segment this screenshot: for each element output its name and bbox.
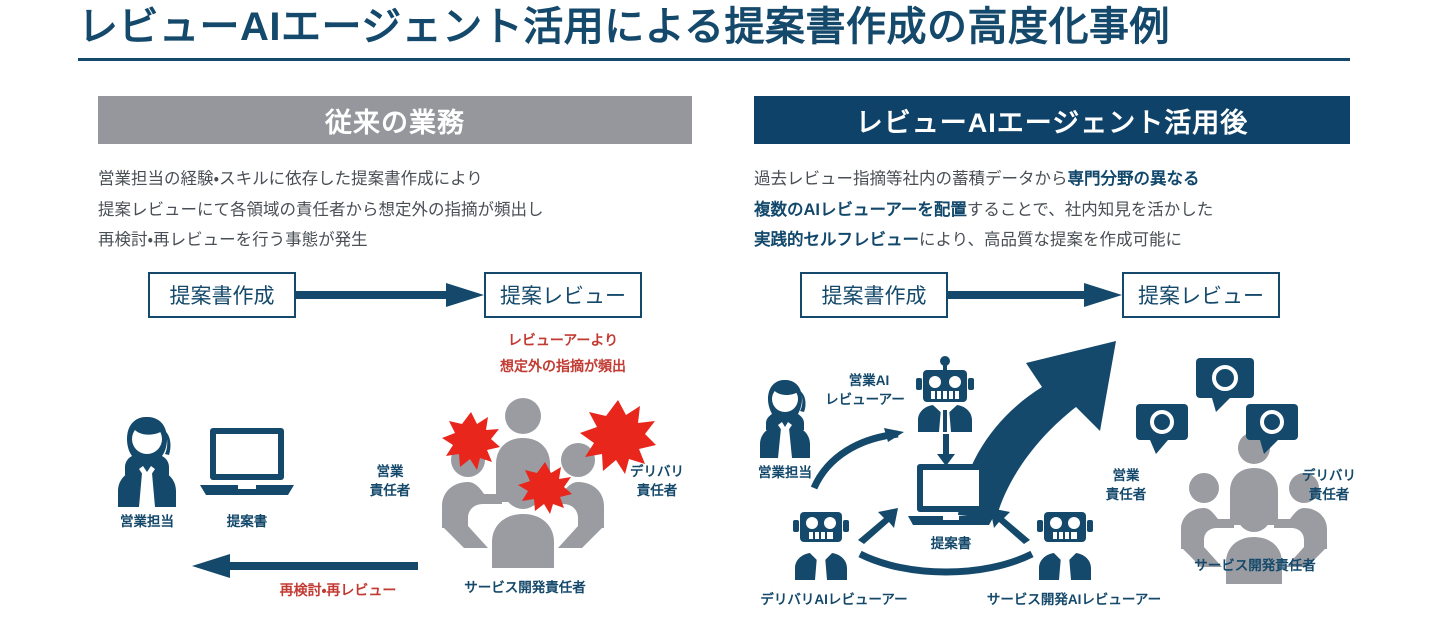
left-body-line-3: 再検討・再レビューを行う事態が発生 — [98, 225, 692, 256]
left-panel: 従来の業務 営業担当の経験・スキルに依存した提案書作成により 提案レビューにて各… — [98, 96, 692, 256]
left-body-line-2: 提案レビューにて各領域の責任者から想定外の指摘が頻出し — [98, 195, 692, 226]
left-rework-label: 再検討・再レビュー — [258, 580, 418, 600]
left-flow-box-create: 提案書作成 — [148, 272, 296, 318]
robots-link-curve-icon — [858, 552, 1034, 576]
person-to-doc-curve-icon — [812, 428, 904, 490]
right-sales-person-icon — [752, 378, 818, 458]
page-title-block: レビューAIエージェント活用による提案書作成の高度化事例 — [78, 4, 1350, 61]
sales-ai-robot-icon — [912, 356, 978, 432]
right-body-line-1: 過去レビュー指摘等社内の蓄積データから専門分野の異なる — [754, 164, 1350, 195]
left-review-note-line1: レビューアーより — [484, 330, 642, 350]
right-body-l3-seg2: により、高品質な提案を作成可能に — [919, 231, 1182, 249]
service-dev-ai-label: サービス開発AIレビューアー — [966, 590, 1182, 610]
left-body-line-1: 営業担当の経験・スキルに依存した提案書作成により — [98, 164, 692, 195]
starburst-icon-left — [442, 412, 500, 470]
page-title: レビューAIエージェント活用による提案書作成の高度化事例 — [78, 4, 1350, 50]
speech-bubble-ok-icon-right — [1246, 404, 1298, 454]
right-body-l2-seg1: 複数のAIレビューアーを配置 — [754, 201, 967, 219]
right-laptop-proposal-icon — [908, 464, 994, 528]
right-panel-body: 過去レビュー指摘等社内の蓄積データから専門分野の異なる 複数のAIレビューアーを… — [754, 164, 1350, 256]
right-sales-lead-label-line2: 責任者 — [1096, 485, 1156, 505]
service-dev-ai-robot-icon — [1034, 510, 1096, 580]
speech-bubble-ok-icon-left — [1136, 404, 1188, 454]
right-delivery-lead-label-line2: 責任者 — [1290, 485, 1368, 505]
sales-ai-label-line2: レビューアー — [818, 390, 912, 410]
right-panel-header: レビューAIエージェント活用後 — [754, 96, 1350, 144]
sales-person-icon — [108, 415, 186, 507]
left-service-dev-lead-label: サービス開発責任者 — [430, 578, 620, 598]
ai-to-doc-arrow-down-icon — [936, 434, 956, 466]
left-sales-lead-label-line2: 責任者 — [360, 481, 420, 501]
right-body-l2-seg2: することで、社内知見を活かした — [967, 201, 1213, 219]
starburst-icon-center — [518, 462, 572, 514]
right-delivery-lead-label-line1: デリバリ — [1290, 466, 1368, 486]
left-review-note-line2: 想定外の指摘が頻出 — [474, 356, 652, 376]
delivery-ai-label: デリバリAIレビューアー — [742, 590, 926, 610]
left-sales-lead-label-line1: 営業 — [360, 462, 420, 482]
left-delivery-lead-label-line1: デリバリ — [618, 462, 696, 482]
slide-canvas: レビューAIエージェント活用による提案書作成の高度化事例 従来の業務 営業担当の… — [0, 0, 1440, 623]
delivery-ai-robot-icon — [790, 510, 852, 580]
right-body-l3-seg1: 実践的セルフレビュー — [754, 231, 919, 249]
left-sales-person-label: 営業担当 — [100, 512, 194, 532]
right-proposal-doc-label: 提案書 — [910, 534, 992, 554]
sales-ai-label-line1: 営業AI — [826, 371, 912, 391]
left-panel-body: 営業担当の経験・スキルに依存した提案書作成により 提案レビューにて各領域の責任者… — [98, 164, 692, 256]
left-panel-header: 従来の業務 — [98, 96, 692, 144]
left-flow-arrow-icon — [296, 283, 486, 307]
left-flow-box-review: 提案レビュー — [484, 272, 642, 318]
right-flow-box-create: 提案書作成 — [800, 272, 948, 318]
right-sales-lead-label-line1: 営業 — [1096, 466, 1156, 486]
right-body-l1-seg2: 専門分野の異なる — [1068, 170, 1200, 188]
right-body-l1-seg1: 過去レビュー指摘等社内の蓄積データから — [754, 170, 1068, 188]
left-proposal-doc-label: 提案書 — [206, 512, 288, 532]
laptop-proposal-icon — [200, 428, 294, 498]
left-rework-arrow-icon — [190, 554, 418, 578]
title-underline — [78, 58, 1350, 61]
right-flow-box-review: 提案レビュー — [1122, 272, 1280, 318]
right-flow-arrow-icon — [948, 283, 1124, 307]
right-body-line-3: 実践的セルフレビューにより、高品質な提案を作成可能に — [754, 225, 1350, 256]
right-panel: レビューAIエージェント活用後 過去レビュー指摘等社内の蓄積データから専門分野の… — [754, 96, 1350, 256]
right-service-dev-lead-label: サービス開発責任者 — [1160, 556, 1350, 576]
delivery-ai-to-doc-arrow-icon — [858, 508, 900, 544]
left-delivery-lead-label-line2: 責任者 — [618, 481, 696, 501]
right-body-line-2: 複数のAIレビューアーを配置することで、社内知見を活かした — [754, 195, 1350, 226]
service-dev-ai-to-doc-arrow-icon — [988, 508, 1030, 544]
